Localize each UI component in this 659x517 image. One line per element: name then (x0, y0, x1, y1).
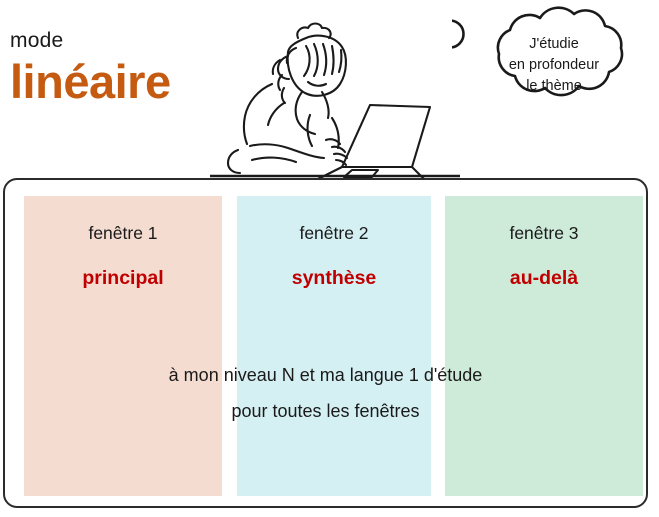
window-1-keyword: principal (24, 266, 222, 290)
window-2-label: fenêtre 2 (237, 222, 431, 244)
bubble-line-2: en profondeur (452, 55, 656, 76)
window-column-3[interactable]: fenêtre 3 au-delà (445, 196, 643, 496)
windows-panel-container: fenêtre 1 principal fenêtre 2 synthèse f… (3, 178, 648, 508)
bubble-line-1: J'étudie (452, 34, 656, 55)
person-studying-at-laptop-icon (210, 0, 460, 180)
mode-label: mode (10, 28, 240, 54)
thought-bubble-text: J'étudie en profondeur le thème (452, 34, 656, 97)
window-3-label: fenêtre 3 (445, 222, 643, 244)
window-column-1[interactable]: fenêtre 1 principal (24, 196, 222, 496)
mode-title: linéaire (10, 56, 240, 108)
window-column-2[interactable]: fenêtre 2 synthèse (237, 196, 431, 496)
window-1-label: fenêtre 1 (24, 222, 222, 244)
header-block: mode linéaire (10, 28, 240, 108)
thought-bubble-icon: J'étudie en profondeur le thème (452, 6, 656, 136)
window-2-keyword: synthèse (237, 266, 431, 290)
bubble-line-3: le thème (452, 76, 656, 97)
window-3-keyword: au-delà (445, 266, 643, 290)
